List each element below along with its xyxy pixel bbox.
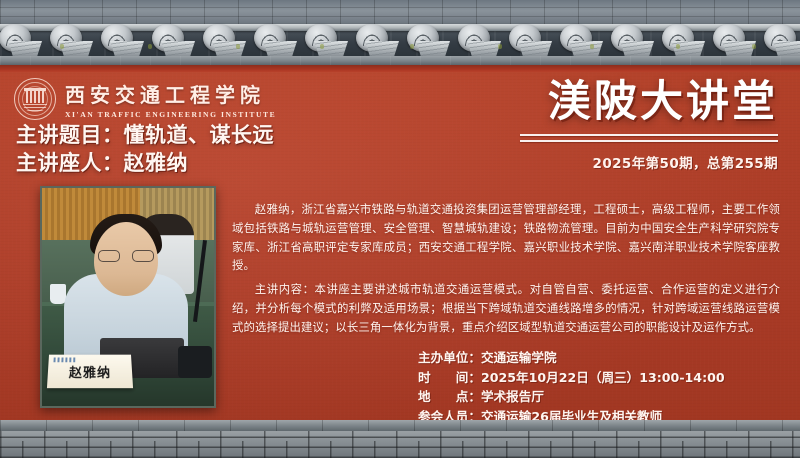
roof-red-trim xyxy=(0,65,800,72)
eave-tile xyxy=(606,24,657,58)
series-title: 渼陂大讲堂 xyxy=(520,80,778,126)
plinth-brickwork xyxy=(0,431,800,458)
eave-tile-row xyxy=(0,24,800,58)
roof-moss xyxy=(320,44,324,49)
eave-tile xyxy=(96,24,147,58)
eave-tile xyxy=(198,24,249,58)
eave-tile xyxy=(0,24,45,58)
speaker-photo: 赵雅纳 xyxy=(40,186,216,408)
poster-header: 西安交通工程学院 XI'AN TRAFFIC ENGINEERING INSTI… xyxy=(0,72,800,180)
lecture-poster: 西安交通工程学院 XI'AN TRAFFIC ENGINEERING INSTI… xyxy=(0,0,800,458)
eave-tile xyxy=(351,24,402,58)
detail-label: 地 点： xyxy=(418,387,481,407)
roof-moss xyxy=(148,44,152,49)
event-detail-row: 地 点：学术报告厅 xyxy=(418,387,725,407)
eave-tile xyxy=(249,24,300,58)
speaker-nameplate: 赵雅纳 xyxy=(47,355,133,389)
traditional-roof-decoration xyxy=(0,0,800,72)
eave-tile xyxy=(147,24,198,58)
eave-tile xyxy=(453,24,504,58)
institution-name-en: XI'AN TRAFFIC ENGINEERING INSTITUTE xyxy=(65,110,276,119)
roof-moss xyxy=(752,44,756,49)
brick-plinth xyxy=(0,420,800,458)
lecture-speaker: 主讲座人：赵雅纳 xyxy=(16,150,274,178)
university-seal-icon xyxy=(14,78,56,120)
title-divider xyxy=(520,134,778,142)
event-detail-row: 时 间：2025年10月22日（周三）13:00-14:00 xyxy=(418,368,725,388)
eave-tile xyxy=(504,24,555,58)
roof-moss xyxy=(236,44,240,49)
speaker-bio: 赵雅纳，浙江省嘉兴市铁路与轨道交通投资集团运营管理部经理，工程硕士，高级工程师，… xyxy=(232,200,780,275)
eave-tile xyxy=(300,24,351,58)
detail-value: 学术报告厅 xyxy=(481,389,544,404)
lecture-topic: 主讲题目：懂轨道、谋长远 xyxy=(16,122,274,150)
plinth-cap xyxy=(0,420,800,431)
eave-tile xyxy=(657,24,708,58)
series-title-block: 渼陂大讲堂 2025年第50期，总第255期 xyxy=(520,80,778,172)
eave-tile xyxy=(759,24,800,58)
roof-moss xyxy=(590,44,594,49)
roof-moss xyxy=(410,44,414,49)
poster-body-text: 赵雅纳，浙江省嘉兴市铁路与轨道交通投资集团运营管理部经理，工程硕士，高级工程师，… xyxy=(232,200,780,337)
event-details: 主办单位：交通运输学院时 间：2025年10月22日（周三）13:00-14:0… xyxy=(418,348,725,426)
roof-moss xyxy=(498,44,502,49)
eave-tile xyxy=(555,24,606,58)
detail-label: 时 间： xyxy=(418,368,481,388)
series-issue: 2025年第50期，总第255期 xyxy=(520,152,778,172)
institution-name-cn: 西安交通工程学院 xyxy=(65,79,276,108)
lecture-title-block: 主讲题目：懂轨道、谋长远 主讲座人：赵雅纳 xyxy=(16,122,274,178)
roof-moss xyxy=(676,44,680,49)
detail-value: 2025年10月22日（周三）13:00-14:00 xyxy=(481,370,725,385)
roof-brick-course xyxy=(0,0,800,26)
roof-moss xyxy=(60,44,64,49)
nameplate-text: 赵雅纳 xyxy=(69,362,112,381)
eave-tile xyxy=(708,24,759,58)
institution-brand: 西安交通工程学院 XI'AN TRAFFIC ENGINEERING INSTI… xyxy=(14,78,276,120)
event-detail-row: 主办单位：交通运输学院 xyxy=(418,348,725,368)
detail-value: 交通运输学院 xyxy=(481,350,557,365)
detail-label: 主办单位： xyxy=(418,348,481,368)
eave-tile xyxy=(45,24,96,58)
lecture-abstract: 主讲内容：本讲座主要讲述城市轨道交通运营模式。对自管自营、委托运营、合作运营的定… xyxy=(232,280,780,336)
eave-tile xyxy=(402,24,453,58)
